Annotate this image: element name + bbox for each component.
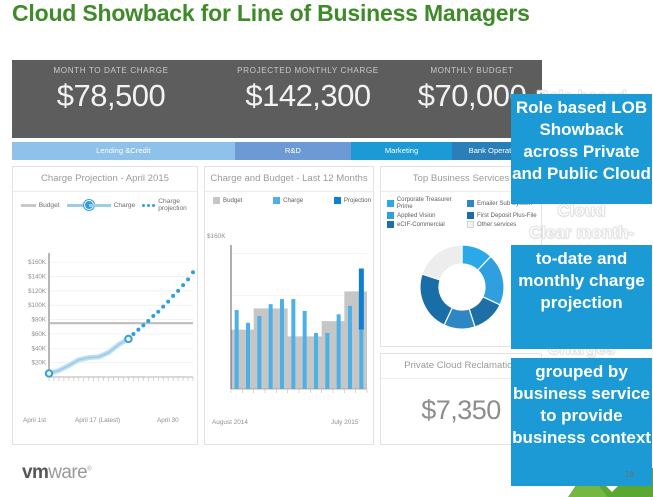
legend-label-budget: Budget — [39, 202, 60, 209]
kpi-header-bar: MONTH TO DATE CHARGE $78,500 PROJECTED M… — [12, 60, 542, 138]
legend-item-charge: Charge — [273, 197, 303, 204]
panel-title: Charge and Budget - Last 12 Months — [205, 167, 373, 192]
kpi-projected-monthly-charge: PROJECTED MONTHLY CHARGE $142,300 — [208, 66, 408, 117]
legend-label: eCIF-Commercial — [397, 221, 445, 228]
xtick-august-2014: August 2014 — [212, 419, 248, 426]
legend-label-projection: Projection — [344, 197, 371, 204]
callout-text: to-date and monthly charge projection — [518, 249, 645, 312]
kpi-value: $142,300 — [208, 75, 408, 117]
legend-label-charge: Charge — [283, 197, 303, 204]
slide: Cloud Showback for Line of Business Mana… — [0, 0, 653, 497]
kpi-label: PROJECTED MONTHLY CHARGE — [208, 66, 408, 75]
chart-charge-and-budget — [209, 239, 373, 415]
logo-vm: vm — [22, 462, 48, 483]
emailer-sub-system-swatch — [467, 200, 474, 207]
xtick-april-30: April 30 — [157, 417, 179, 424]
xtick-april-17-latest: April 17 (Latest) — [75, 417, 120, 424]
ecif-commercial-swatch — [387, 221, 394, 228]
other-services-swatch — [467, 221, 474, 228]
legend-label: Applied Vision — [397, 212, 436, 219]
callout-role-based-showback: Role based LOB Showback across Private a… — [511, 94, 652, 204]
legend-item-applied-vision: Applied Vision — [387, 212, 467, 219]
legend-label-charge: Charge — [114, 202, 136, 209]
chart-legend-charge-projection: Budget Charge Charge projection — [21, 198, 193, 212]
callout-text: grouped by business service to provide b… — [512, 362, 651, 447]
kpi-value: $78,500 — [16, 75, 206, 117]
xtick-april-1st: April 1st — [23, 417, 46, 424]
projection-dot-icon — [142, 204, 145, 207]
page-title: Cloud Showback for Line of Business Mana… — [12, 0, 532, 27]
panels-row: Charge Projection - April 2015 Budget Ch… — [12, 166, 542, 445]
budget-swatch — [213, 197, 220, 204]
tab-marketing[interactable]: Marketing — [351, 142, 452, 160]
slide-number: 19 — [625, 470, 634, 479]
budget-line-swatch — [21, 204, 36, 207]
lob-tab-bar[interactable]: Lending &Credit R&D Marketing Bank Opera… — [12, 142, 542, 160]
dashboard: MONTH TO DATE CHARGE $78,500 PROJECTED M… — [12, 60, 542, 445]
tab-lending-credit[interactable]: Lending &Credit — [12, 142, 235, 160]
xtick-july-2015: July 2015 — [331, 419, 358, 426]
legend-item-ecif-commercial: eCIF-Commercial — [387, 221, 467, 228]
legend-item-other-services: Other services — [467, 221, 516, 228]
panel-charge-projection: Charge Projection - April 2015 Budget Ch… — [12, 166, 198, 445]
callout-charges-grouped-by-business-service: grouped by business service to provide b… — [511, 358, 652, 486]
legend-label-budget: Budget — [223, 197, 242, 204]
svg-text:$20K: $20K — [32, 360, 47, 367]
projection-swatch — [334, 197, 341, 204]
svg-text:$80K: $80K — [32, 317, 47, 324]
legend-item-corporate-treasurer-prime: Corporate Treasurer Prime — [387, 196, 467, 210]
corporate-treasurer-prime-swatch — [387, 200, 394, 207]
donut-chart-top-business-services — [412, 237, 512, 337]
projection-dot-icon — [147, 204, 150, 207]
legend-item-budget: Budget — [213, 197, 242, 204]
callout-ghost-text-2: Clear month- — [511, 222, 652, 244]
ghost-line: Clear month- — [511, 222, 652, 244]
svg-text:$40K: $40K — [32, 345, 47, 352]
first-deposit-plus-file-swatch — [467, 212, 474, 219]
charge-line-swatch-2 — [89, 204, 111, 207]
kpi-month-to-date-charge: MONTH TO DATE CHARGE $78,500 — [16, 66, 206, 117]
legend-item-projection: Projection — [334, 197, 371, 204]
callout-clear-charge-projection: to-date and monthly charge projection — [511, 245, 652, 349]
logo-registered-mark: ® — [87, 467, 91, 473]
svg-text:$160K: $160K — [28, 259, 47, 266]
svg-text:$100K: $100K — [28, 302, 47, 309]
chart-legend-charge-budget: Budget Charge Projection — [213, 197, 371, 204]
svg-text:$120K: $120K — [28, 288, 47, 295]
panel-charge-and-budget: Charge and Budget - Last 12 Months Budge… — [204, 166, 374, 445]
svg-text:$60K: $60K — [32, 331, 47, 338]
panel-title: Charge Projection - April 2015 — [13, 167, 197, 192]
legend-label-charge-projection: Charge projection — [158, 198, 193, 212]
svg-text:$140K: $140K — [28, 274, 47, 281]
kpi-label: MONTHLY BUDGET — [402, 66, 542, 75]
applied-vision-swatch — [387, 212, 394, 219]
legend-label: Corporate Treasurer Prime — [397, 196, 467, 210]
chart-charge-projection: $20K$40K$60K$80K$100K$120K$140K$160K — [17, 249, 195, 411]
tab-rd[interactable]: R&D — [235, 142, 352, 160]
kpi-label: MONTH TO DATE CHARGE — [16, 66, 206, 75]
vmware-logo: vmware® — [22, 462, 91, 484]
charge-swatch — [273, 197, 280, 204]
projection-dot-icon — [152, 204, 155, 207]
logo-ware: ware — [48, 462, 87, 483]
